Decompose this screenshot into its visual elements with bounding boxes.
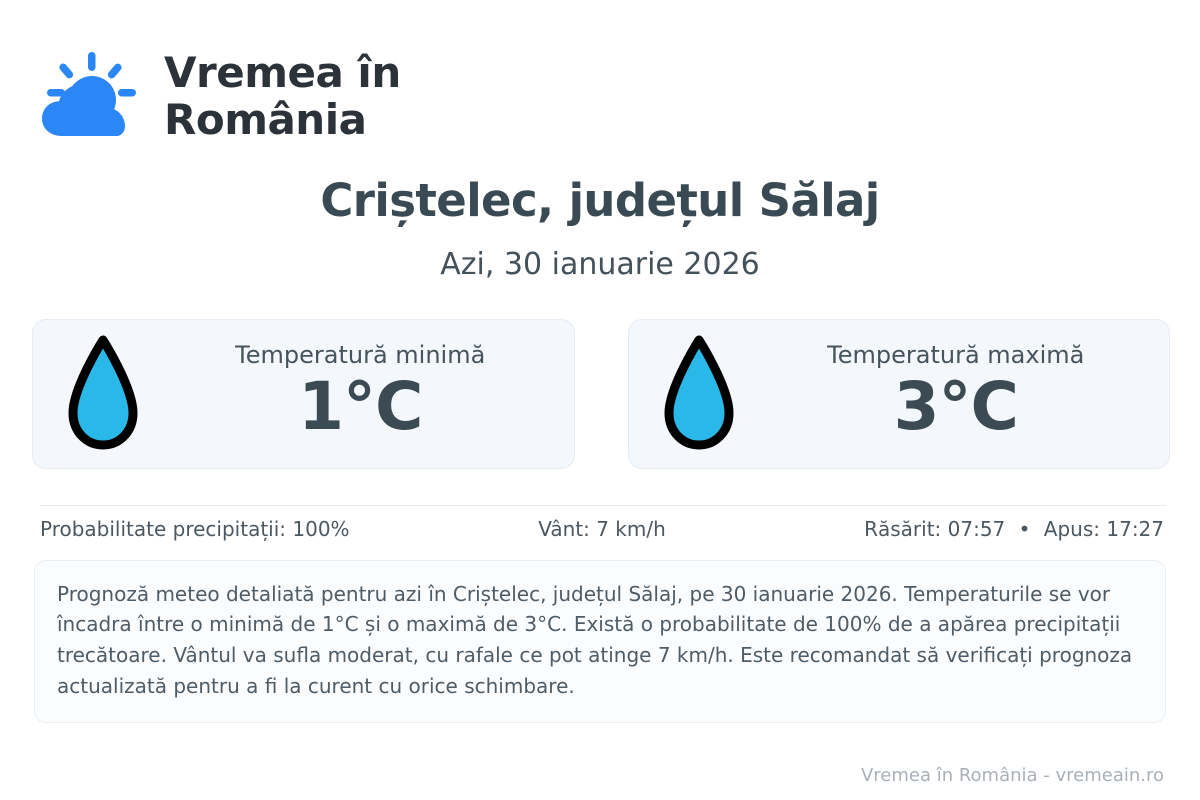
stat-sunset: Apus: 17:27 <box>1044 517 1164 541</box>
stat-sunrise: Răsărit: 07:57 <box>864 517 1005 541</box>
brand-title-line2: România <box>164 96 401 143</box>
card-temperature-min: Temperatură minimă 1°C <box>32 319 575 469</box>
footer-credit: Vremea în România - vremeain.ro <box>861 765 1164 786</box>
weather-stats-row: Probabilitate precipitații: 100% Vânt: 7… <box>40 506 1164 552</box>
stat-sun-times: Răsărit: 07:57 • Apus: 17:27 <box>789 517 1164 541</box>
page-title: Criștelec, județul Sălaj <box>0 176 1200 226</box>
temperature-cards: Temperatură minimă 1°C Temperatură maxim… <box>32 319 1170 469</box>
stat-wind: Vânt: 7 km/h <box>415 517 790 541</box>
card-value: 1°C <box>298 372 422 441</box>
brand-title: Vremea în România <box>164 49 401 143</box>
water-drop-icon <box>67 335 139 453</box>
water-drop-icon <box>663 335 735 453</box>
sun-behind-cloud-icon <box>38 48 142 144</box>
weather-page: Vremea în România Criștelec, județul Săl… <box>0 0 1200 800</box>
page-subtitle: Azi, 30 ianuarie 2026 <box>0 248 1200 281</box>
card-body: Temperatură maximă 3°C <box>761 342 1152 445</box>
forecast-description-text: Prognoză meteo detaliată pentru azi în C… <box>57 579 1143 702</box>
site-brand[interactable]: Vremea în România <box>0 0 1200 144</box>
card-label: Temperatură minimă <box>235 342 485 370</box>
forecast-description-panel: Prognoză meteo detaliată pentru azi în C… <box>34 560 1166 723</box>
card-label: Temperatură maximă <box>827 342 1084 370</box>
card-value: 3°C <box>894 372 1018 441</box>
card-temperature-max: Temperatură maximă 3°C <box>628 319 1171 469</box>
brand-title-line1: Vremea în <box>164 49 401 96</box>
stat-separator: • <box>1012 517 1038 541</box>
stat-precipitation: Probabilitate precipitații: 100% <box>40 517 415 541</box>
card-body: Temperatură minimă 1°C <box>165 342 556 445</box>
